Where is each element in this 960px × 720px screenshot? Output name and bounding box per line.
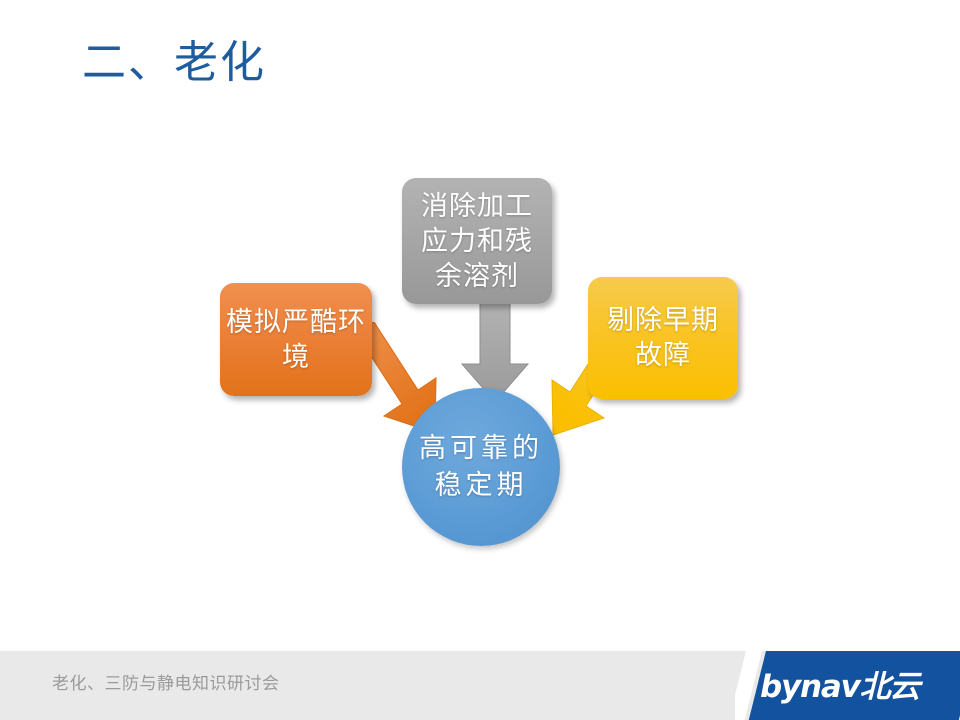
- diagram-center-circle[interactable]: 高可靠的稳定期: [402, 388, 560, 546]
- diagram-node-orange[interactable]: 模拟严酷环境: [220, 283, 372, 396]
- diagram-center-circle-label: 高可靠的稳定期: [402, 430, 560, 504]
- diagram-container: 消除加工应力和残余溶剂 模拟严酷环境 剔除早期故障 高可靠的稳定期: [0, 0, 960, 640]
- diagram-node-gray[interactable]: 消除加工应力和残余溶剂: [402, 178, 552, 304]
- diagram-node-gray-label: 消除加工应力和残余溶剂: [402, 189, 552, 294]
- diagram-node-orange-label: 模拟严酷环境: [220, 305, 372, 375]
- logo-text: bynav北云: [760, 661, 919, 706]
- diagram-node-yellow-label: 剔除早期故障: [588, 303, 738, 373]
- slide-canvas: 二、老化: [0, 0, 960, 720]
- diagram-node-yellow[interactable]: 剔除早期故障: [588, 277, 738, 399]
- footer-text: 老化、三防与静电知识研讨会: [52, 672, 280, 696]
